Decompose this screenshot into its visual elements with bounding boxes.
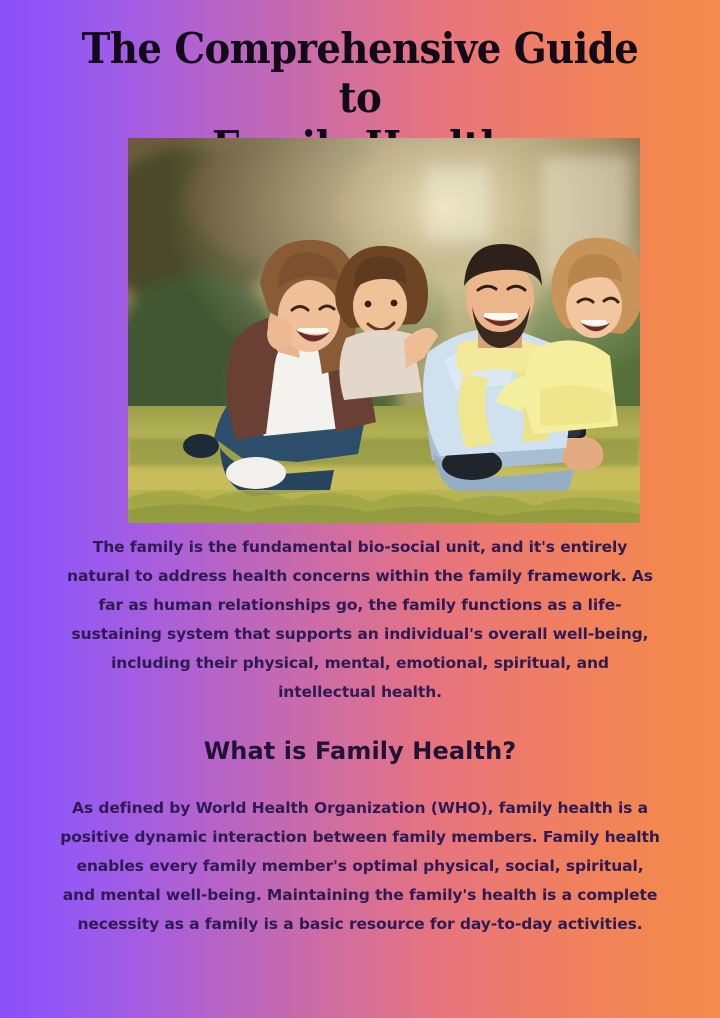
content-area: The family is the fundamental bio-social… — [60, 533, 660, 939]
paragraph-definition: As defined by World Health Organization … — [60, 794, 660, 939]
poster-page: The Comprehensive Guide to Family Health — [0, 0, 720, 1018]
paragraph-intro: The family is the fundamental bio-social… — [60, 533, 660, 707]
page-title-line-1: The Comprehensive Guide to — [66, 24, 655, 122]
section-heading-what-is-family-health: What is Family Health? — [60, 737, 660, 766]
hero-image — [128, 138, 640, 523]
hero-image-artwork — [128, 138, 640, 523]
